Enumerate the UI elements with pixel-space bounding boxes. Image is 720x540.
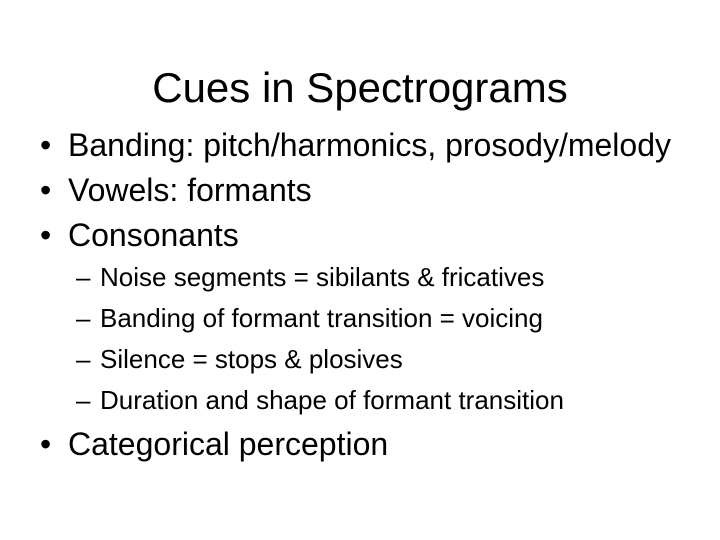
list-item: •Vowels: formants (0, 171, 720, 216)
list-item-label: Consonants (68, 216, 239, 254)
list-item: •Categorical perception (0, 425, 720, 470)
sub-list-item: –Duration and shape of formant transitio… (0, 384, 720, 425)
sub-list-item-label: Duration and shape of formant transition (100, 384, 564, 417)
list-item-label: Vowels: formants (68, 171, 312, 209)
dash-bullet-icon: – (76, 343, 100, 376)
dash-bullet-icon: – (76, 261, 100, 294)
round-bullet-icon: • (40, 216, 68, 254)
sub-list-item-label: Banding of formant transition = voicing (100, 302, 543, 335)
sub-list-item: –Banding of formant transition = voicing (0, 302, 720, 343)
round-bullet-icon: • (40, 126, 68, 164)
slide-title: Cues in Spectrograms (0, 64, 720, 112)
dash-bullet-icon: – (76, 302, 100, 335)
sub-list-item-label: Noise segments = sibilants & fricatives (100, 261, 544, 294)
list-item-label: Banding: pitch/harmonics, prosody/melody (68, 126, 671, 164)
list-item-label: Categorical perception (68, 425, 388, 463)
presentation-slide: Cues in Spectrograms •Banding: pitch/har… (0, 0, 720, 540)
bullet-list: •Banding: pitch/harmonics, prosody/melod… (0, 126, 720, 470)
sub-list-item: –Silence = stops & plosives (0, 343, 720, 384)
sub-list-item-label: Silence = stops & plosives (100, 343, 403, 376)
list-item: •Banding: pitch/harmonics, prosody/melod… (0, 126, 720, 171)
dash-bullet-icon: – (76, 384, 100, 417)
round-bullet-icon: • (40, 425, 68, 463)
sub-list-item: –Noise segments = sibilants & fricatives (0, 261, 720, 302)
list-item: •Consonants (0, 216, 720, 261)
round-bullet-icon: • (40, 171, 68, 209)
